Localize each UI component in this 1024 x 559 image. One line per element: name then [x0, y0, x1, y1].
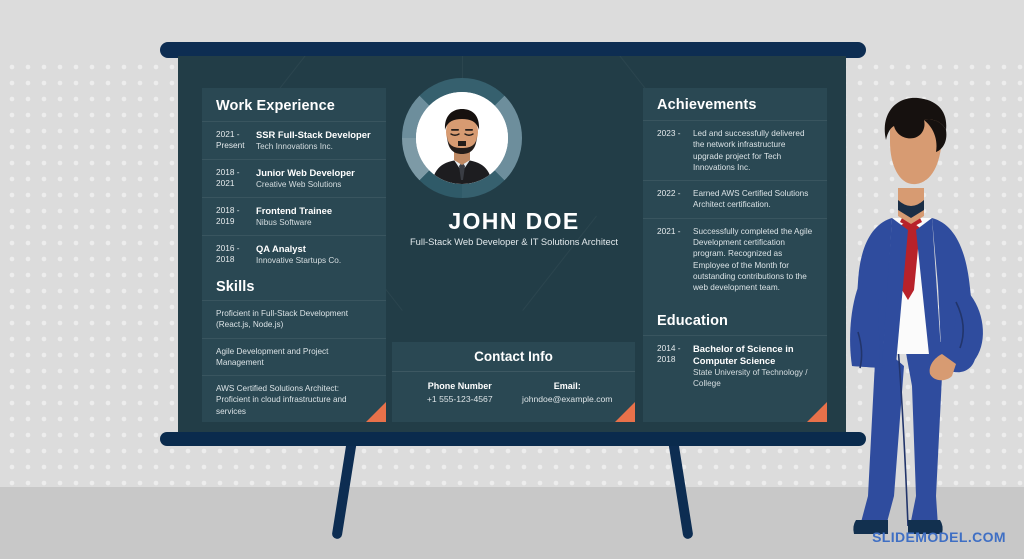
- left-column-panel: Work Experience 2021 - Present SSR Full-…: [202, 88, 386, 422]
- skills-title: Skills: [202, 273, 386, 300]
- work-role: SSR Full-Stack Developer: [256, 129, 376, 141]
- skill-item: AWS Certified Solutions Architect: Profi…: [202, 375, 386, 422]
- avatar: [416, 92, 508, 184]
- education-years: 2014 - 2018: [657, 343, 693, 389]
- work-years: 2021 - Present: [216, 129, 256, 152]
- work-years: 2018 - 2019: [216, 205, 256, 228]
- work-org: Innovative Startups Co.: [256, 255, 376, 266]
- work-row: 2016 - 2018 QA Analyst Innovative Startu…: [202, 235, 386, 273]
- businessman-illustration: [838, 96, 1024, 536]
- work-row: 2021 - Present SSR Full-Stack Developer …: [202, 121, 386, 159]
- work-years: 2016 - 2018: [216, 243, 256, 266]
- profile-name: JOHN DOE: [368, 208, 660, 235]
- achievement-year: 2023 -: [657, 128, 693, 173]
- work-row: 2018 - 2021 Junior Web Developer Creativ…: [202, 159, 386, 197]
- education-school: State University of Technology / College: [693, 367, 817, 389]
- work-org: Tech Innovations Inc.: [256, 141, 376, 152]
- corner-triangle-accent: [615, 402, 635, 422]
- presentation-board: Work Experience 2021 - Present SSR Full-…: [178, 56, 846, 434]
- slide-canvas: Work Experience 2021 - Present SSR Full-…: [0, 0, 1024, 559]
- contact-info-panel: Contact Info Phone Number +1 555-123-456…: [392, 342, 635, 422]
- work-role: QA Analyst: [256, 243, 376, 255]
- achievement-row: 2021 - Successfully completed the Agile …: [643, 218, 827, 301]
- education-degree: Bachelor of Science in Computer Science: [693, 343, 817, 367]
- work-row: 2018 - 2019 Frontend Trainee Nibus Softw…: [202, 197, 386, 235]
- work-org: Nibus Software: [256, 217, 376, 228]
- work-years: 2018 - 2021: [216, 167, 256, 190]
- profile-subtitle: Full-Stack Web Developer & IT Solutions …: [368, 236, 660, 247]
- work-role: Junior Web Developer: [256, 167, 376, 179]
- profile-photo-ring: [402, 78, 522, 198]
- achievement-text: Led and successfully delivered the netwo…: [693, 128, 817, 173]
- phone-value: +1 555-123-4567: [406, 393, 514, 405]
- corner-triangle-accent: [366, 402, 386, 422]
- work-role: Frontend Trainee: [256, 205, 376, 217]
- achievements-title: Achievements: [643, 88, 827, 120]
- email-label: Email:: [514, 380, 622, 393]
- skill-item: Proficient in Full-Stack Development (Re…: [202, 300, 386, 338]
- achievement-row: 2022 - Earned AWS Certified Solutions Ar…: [643, 180, 827, 218]
- achievement-year: 2022 -: [657, 188, 693, 211]
- skill-item: Agile Development and Project Management: [202, 338, 386, 376]
- board-bottom-tray: [160, 432, 866, 446]
- education-row: 2014 - 2018 Bachelor of Science in Compu…: [643, 335, 827, 396]
- achievement-text: Successfully completed the Agile Develop…: [693, 226, 817, 294]
- contact-email: Email: johndoe@example.com: [514, 380, 622, 405]
- portrait-illustration: [416, 92, 508, 184]
- achievement-year: 2021 -: [657, 226, 693, 294]
- achievement-text: Earned AWS Certified Solutions Architect…: [693, 188, 817, 211]
- phone-label: Phone Number: [406, 380, 514, 393]
- work-org: Creative Web Solutions: [256, 179, 376, 190]
- corner-triangle-accent: [807, 402, 827, 422]
- contact-info-title: Contact Info: [392, 342, 635, 372]
- right-column-panel: Achievements 2023 - Led and successfully…: [643, 88, 827, 422]
- slidemodel-branding: SLIDEMODEL.COM: [872, 529, 1006, 545]
- email-value: johndoe@example.com: [514, 393, 622, 405]
- achievement-row: 2023 - Led and successfully delivered th…: [643, 120, 827, 180]
- education-title: Education: [643, 301, 827, 335]
- contact-phone: Phone Number +1 555-123-4567: [406, 380, 514, 405]
- work-experience-title: Work Experience: [202, 88, 386, 121]
